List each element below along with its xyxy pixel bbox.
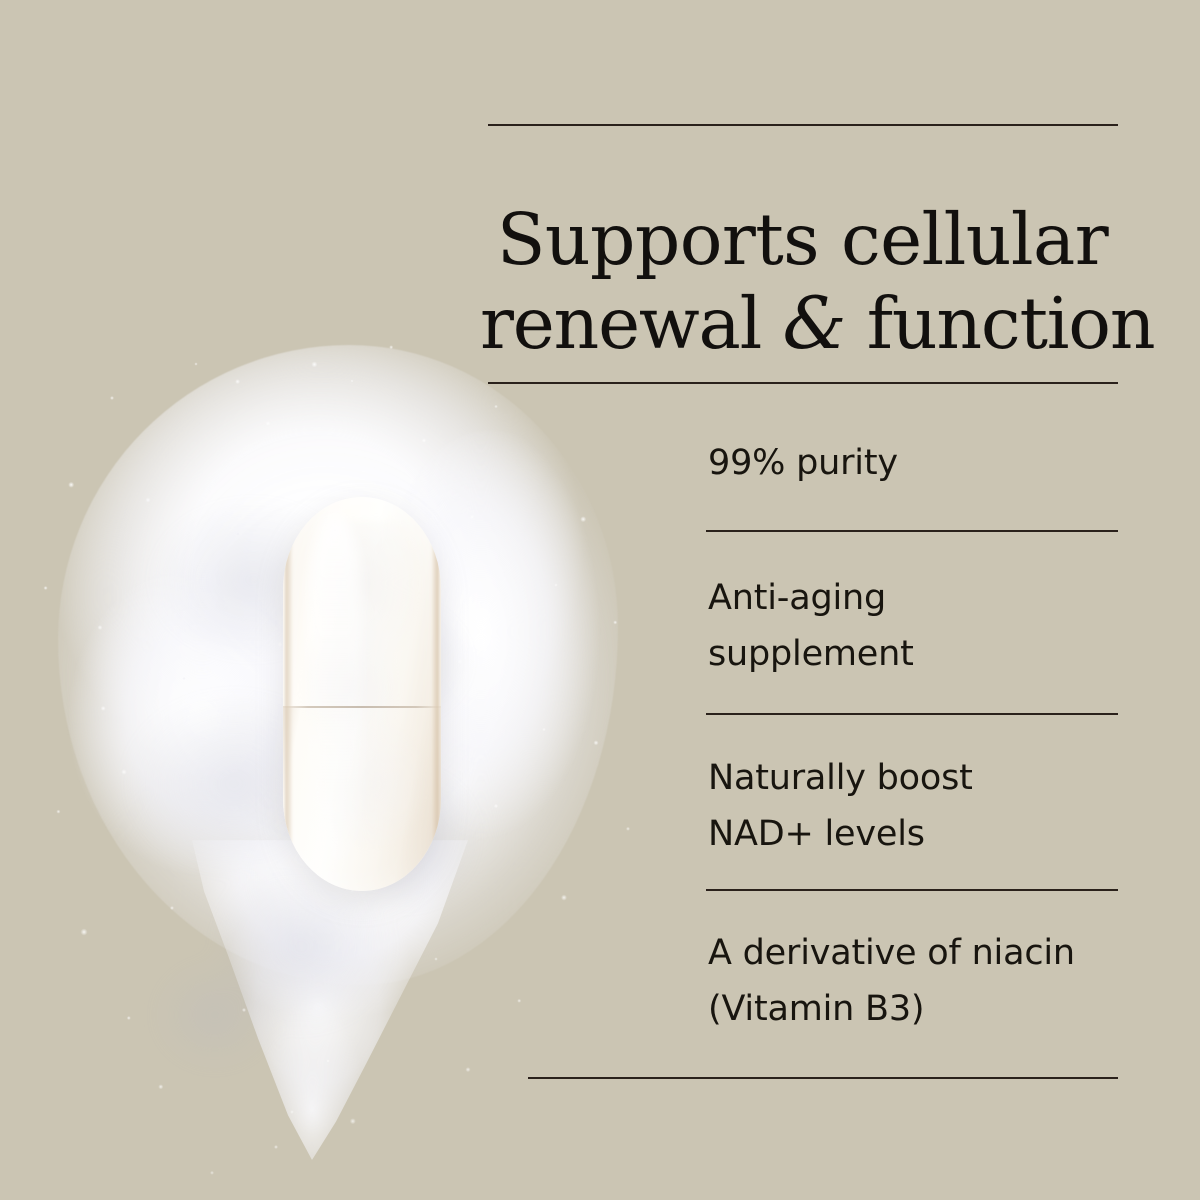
feature-item-niacin-derivative: A derivative of niacin (Vitamin B3): [708, 925, 1128, 1037]
feature-2-line-1: Anti-aging: [708, 570, 1128, 626]
feature-4-line-1: A derivative of niacin: [708, 925, 1128, 981]
capsule-left-edge: [285, 529, 292, 868]
divider-top: [488, 124, 1118, 126]
feature-item-purity: 99% purity: [708, 435, 1128, 491]
product-photo: [0, 0, 660, 1200]
feature-item-nad-levels: Naturally boost NAD+ levels: [708, 750, 1128, 862]
divider-below-headline: [488, 382, 1118, 384]
divider-feature-1-2: [706, 530, 1118, 532]
feature-1-line-1: 99% purity: [708, 435, 1128, 491]
feature-4-line-2: (Vitamin B3): [708, 981, 1128, 1037]
divider-feature-2-3: [706, 713, 1118, 715]
headline: Supports cellular renewal & function: [480, 198, 1125, 365]
headline-line-2-before: renewal: [480, 282, 782, 365]
feature-2-line-2: supplement: [708, 626, 1128, 682]
divider-feature-3-4: [706, 889, 1118, 891]
product-feature-card: Supports cellular renewal & function 99%…: [0, 0, 1200, 1200]
feature-3-line-1: Naturally boost: [708, 750, 1128, 806]
headline-line-2: renewal & function: [480, 281, 1125, 365]
divider-bottom: [528, 1077, 1118, 1079]
capsule-lower-half: [283, 706, 441, 891]
headline-line-1: Supports cellular: [480, 198, 1125, 281]
feature-item-anti-aging: Anti-aging supplement: [708, 570, 1128, 682]
headline-line-2-after: function: [845, 282, 1154, 365]
ampersand-glyph: &: [782, 281, 845, 365]
copy-panel: Supports cellular renewal & function 99%…: [660, 0, 1200, 1200]
capsule-right-edge: [432, 529, 439, 868]
feature-3-line-2: NAD+ levels: [708, 806, 1128, 862]
supplement-capsule: [283, 497, 441, 891]
capsule-joint-line: [283, 706, 441, 708]
